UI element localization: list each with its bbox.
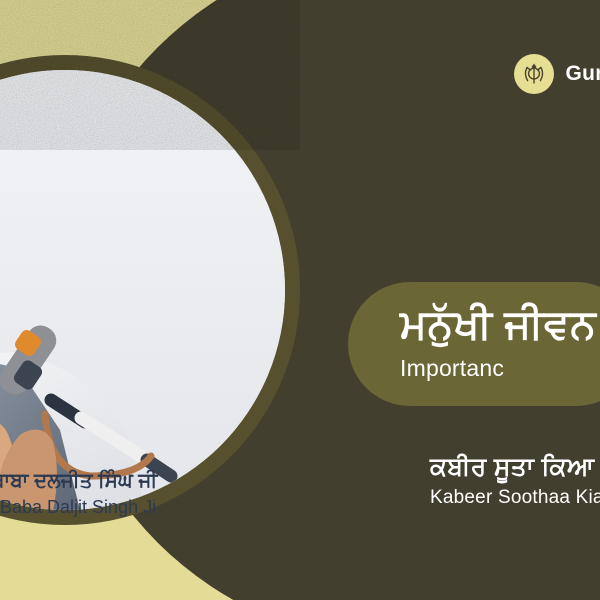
speaker-caption: ਬਾਬਾ ਦਲਜੀਤ ਸਿੰਘ ਜੀ Baba Daljit Singh Ji: [0, 468, 157, 519]
quote-gurmukhi: ਕਬੀਰ ਸੂਤਾ ਕਿਆ ਕ: [430, 452, 600, 483]
brand-name: Gurdu: [566, 62, 600, 86]
portrait-frame: [0, 70, 285, 510]
title-block: ਮਨੁੱਖੀ ਜੀਵਨ Importanc: [400, 300, 596, 384]
speaker-name-roman: Baba Daljit Singh Ji: [0, 495, 157, 519]
brand-lockup: Gurdu: [514, 54, 600, 94]
khanda-logo-icon: [521, 61, 547, 87]
speaker-name-gurmukhi: ਬਾਬਾ ਦਲਜੀਤ ਸਿੰਘ ਜੀ: [0, 468, 157, 494]
poster-canvas: ਮਨੁੱਖੀ ਜੀਵਨ Importanc ਕਬੀਰ ਸੂਤਾ ਕਿਆ ਕ Ka…: [0, 0, 600, 600]
speaker-portrait-illustration: [0, 70, 285, 510]
title-gurmukhi: ਮਨੁੱਖੀ ਜੀਵਨ: [400, 300, 596, 348]
brand-badge: [514, 54, 554, 94]
quote-roman: Kabeer Soothaa Kiaa Kareh: [430, 486, 600, 511]
quote-block: ਕਬੀਰ ਸੂਤਾ ਕਿਆ ਕ Kabeer Soothaa Kiaa Kare…: [430, 452, 600, 511]
title-roman: Importanc: [400, 354, 596, 384]
